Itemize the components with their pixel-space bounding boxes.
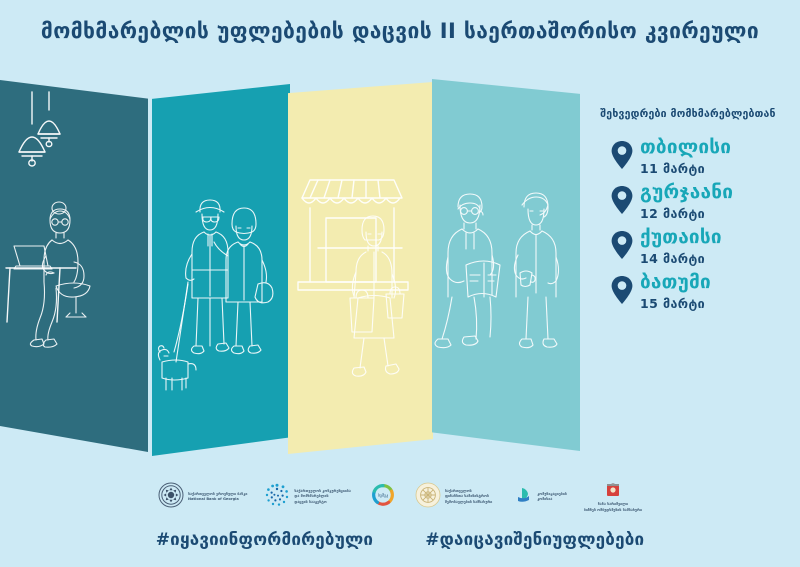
partner-logos-row: საქართველოს ეროვნული ბანკიNational Bank …	[0, 472, 800, 522]
map-pin-icon	[610, 140, 634, 174]
city-date: 12 მარტი	[640, 206, 705, 221]
meetings-heading: შეხვედრები მომხმარებლებთან	[588, 108, 788, 120]
logo-label-ka: საქართველოს ეროვნული ბანკი	[188, 492, 247, 496]
ombudsman-crest-icon	[606, 481, 620, 501]
map-pin-icon	[610, 275, 634, 309]
logo-label-en: National Bank of Georgia	[188, 497, 239, 501]
svg-text:სემეკ: სემეკ	[378, 493, 388, 498]
list-item-city-batumi: ბათუმი 15 მარტი	[588, 273, 788, 312]
logo-label: ნანა სარიშვილი ბიზნეს ომბუდსმენის სამსახ…	[584, 502, 642, 512]
logo-label: საქართველოს კონკურენციისა და მომხმარებლი…	[294, 489, 350, 505]
meetings-sidebar: შეხვედრები მომხმარებლებთან თბილისი 11 მა…	[588, 108, 788, 318]
panel-elderly-couple-with-dog	[152, 84, 290, 456]
city-name: თბილისი	[640, 136, 731, 158]
semek-ring-icon: სემეკ	[368, 482, 398, 512]
logo-communications-commission: კომუნიკაციების კომისია	[509, 483, 567, 511]
logo-business-ombudsman-office: ნანა სარიშვილი ბიზნეს ომბუდსმენის სამსახ…	[584, 481, 642, 512]
comcom-swirl-icon	[509, 483, 533, 511]
city-date: 14 მარტი	[640, 251, 705, 266]
city-date: 15 მარტი	[640, 296, 705, 311]
hashtag-protect-your-rights: #დაიცავიშენიუფლებები	[425, 530, 644, 550]
panel-two-people-reading	[432, 79, 580, 451]
list-item-city-tbilisi: თბილისი 11 მარტი	[588, 138, 788, 177]
city-name: ქუთაისი	[640, 226, 722, 248]
illustration-elderly-couple-with-dog	[152, 84, 290, 456]
illustration-two-people-reading	[432, 79, 580, 451]
logo-label: საქართველოს ფინანსთა სამინისტროს შემოსავ…	[445, 489, 492, 505]
logo-competition-and-consumer-protection-agency: საქართველოს კონკურენციისა და მომხმარებლი…	[264, 482, 350, 512]
poster-title-bar: მომხმარებლის უფლებების დაცვის II საერთაშ…	[0, 0, 800, 62]
page-title: მომხმარებლის უფლებების დაცვის II საერთაშ…	[41, 19, 759, 43]
revenue-service-emblem-icon	[415, 482, 441, 512]
logo-revenue-service-ministry-of-finance: საქართველოს ფინანსთა სამინისტროს შემოსავ…	[415, 482, 492, 512]
hashtag-be-informed: #იყავიინფორმირებული	[156, 530, 374, 550]
list-item-city-kutaisi: ქუთაისი 14 მარტი	[588, 228, 788, 267]
list-item-city-gurjaani: გურჯაანი 12 მარტი	[588, 183, 788, 222]
city-date: 11 მარტი	[640, 161, 705, 176]
illustration-market-stall	[288, 82, 433, 454]
logo-national-bank-of-georgia: საქართველოს ეროვნული ბანკიNational Bank …	[158, 482, 247, 512]
logo-gnerc-energy-regulatory-commission: სემეკ	[368, 482, 398, 512]
agency-spiral-dots-icon	[264, 482, 290, 512]
national-bank-emblem-icon	[158, 482, 184, 512]
panel-shopper-at-market-stall	[288, 82, 433, 454]
illustration-woman-at-laptop	[0, 80, 148, 452]
panel-woman-at-laptop	[0, 80, 148, 452]
city-name: ბათუმი	[640, 271, 711, 293]
hashtags-row: #იყავიინფორმირებული #დაიცავიშენიუფლებები	[0, 530, 800, 550]
map-pin-icon	[610, 185, 634, 219]
city-name: გურჯაანი	[640, 181, 733, 203]
logo-label: კომუნიკაციების კომისია	[537, 492, 567, 502]
logo-label: საქართველოს ეროვნული ბანკიNational Bank …	[188, 492, 247, 502]
map-pin-icon	[610, 230, 634, 264]
